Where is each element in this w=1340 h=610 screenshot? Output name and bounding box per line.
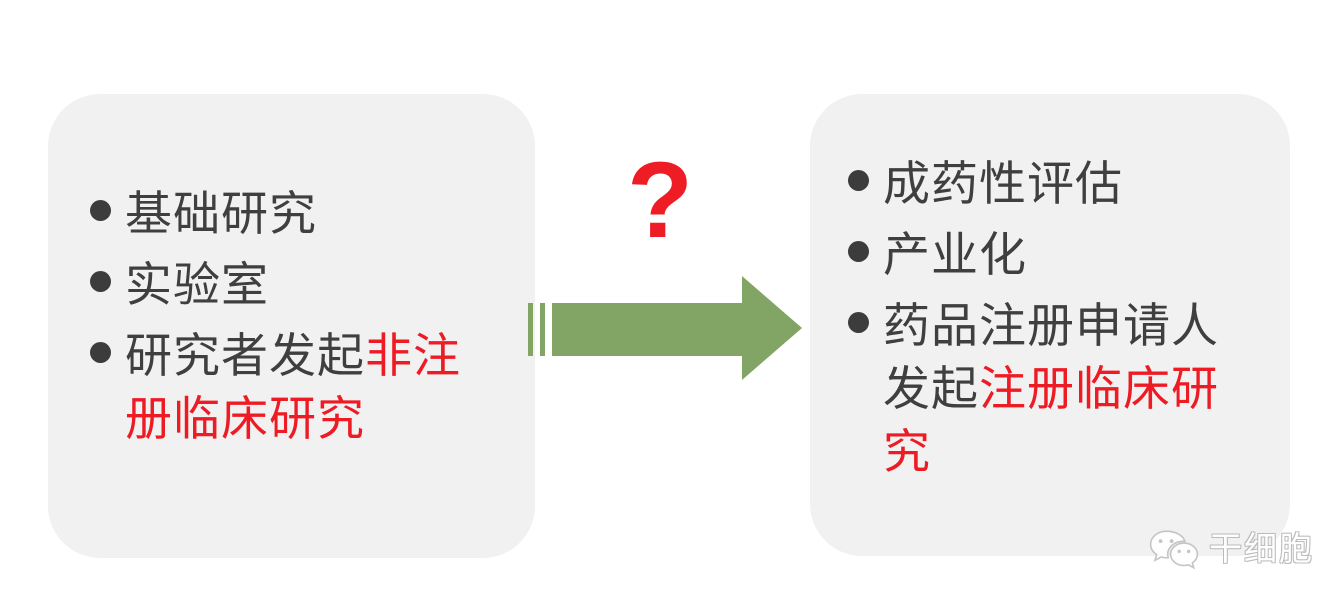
question-mark-label: ? (620, 146, 700, 254)
bullet-dot-icon (90, 271, 111, 292)
list-item-label: 基础研究 (125, 182, 317, 245)
wechat-dot (1170, 539, 1174, 543)
wechat-dot (1187, 550, 1190, 553)
list-item-label: 实验室 (125, 253, 269, 316)
arrow-head (742, 276, 802, 380)
arrow-tail-tick-1 (528, 303, 533, 356)
list-item: 成药性评估 (848, 152, 1276, 215)
list-item: 研究者发起非注册临床研究 (90, 324, 515, 450)
list-item: 基础研究 (90, 182, 515, 245)
bullet-dot-icon (90, 342, 111, 363)
list-item: 实验室 (90, 253, 515, 316)
list-item-label: 药品注册申请人发起注册临床研究 (883, 294, 1258, 483)
watermark: 干细胞 (1148, 528, 1314, 570)
list-item: 产业化 (848, 223, 1276, 286)
left-stage-panel: 基础研究 实验室 研究者发起非注册临床研究 (48, 94, 535, 558)
transition-arrow-icon (528, 272, 808, 387)
bullet-dot-icon (848, 170, 869, 191)
list-item-label: 成药性评估 (883, 152, 1123, 215)
bullet-dot-icon (848, 312, 869, 333)
arrow-tail-tick-2 (540, 303, 545, 356)
bullet-dot-icon (848, 241, 869, 262)
right-stage-panel: 成药性评估 产业化 药品注册申请人发起注册临床研究 (810, 94, 1290, 556)
bullet-dot-icon (90, 200, 111, 221)
diagram-canvas: 基础研究 实验室 研究者发起非注册临床研究 ? 成药性评估 (0, 0, 1340, 610)
watermark-label: 干细胞 (1209, 530, 1314, 568)
wechat-dot (1178, 550, 1181, 553)
list-item: 药品注册申请人发起注册临床研究 (848, 294, 1276, 483)
wechat-icon (1148, 528, 1200, 570)
list-item-label: 产业化 (883, 223, 1027, 286)
arrow-shaft (552, 303, 747, 356)
left-bullet-list: 基础研究 实验室 研究者发起非注册临床研究 (48, 94, 535, 558)
right-bullet-list: 成药性评估 产业化 药品注册申请人发起注册临床研究 (810, 94, 1290, 556)
wechat-dot (1159, 539, 1163, 543)
list-item-label: 研究者发起非注册临床研究 (125, 324, 495, 450)
